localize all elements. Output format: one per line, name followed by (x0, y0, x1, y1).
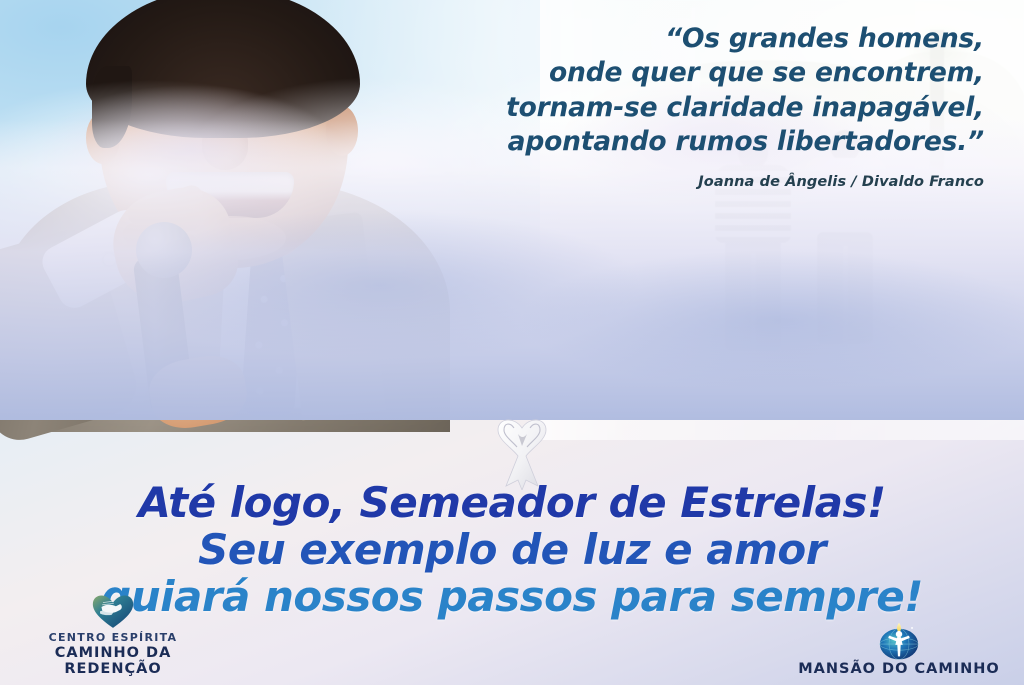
quote-line-1: “Os grandes homens, (424, 22, 984, 56)
headline-line-1: Até logo, Semeador de Estrelas! (0, 482, 1024, 524)
tribute-poster: “Os grandes homens, onde quer que se enc… (0, 0, 1024, 685)
heart-hands-logo-icon (8, 595, 218, 629)
logo-left-line-1: CENTRO ESPÍRITA (8, 631, 218, 644)
quote-line-3: tornam-se claridade inapagável, (424, 91, 984, 125)
quote-author: Joanna de Ângelis / Divaldo Franco (424, 174, 984, 190)
quote-line-2: onde quer que se encontrem, (424, 56, 984, 90)
globe-figure-flame-logo-icon (784, 624, 1014, 658)
portrait-man-with-microphone (0, 0, 460, 424)
logo-centro-espirita-caminho-da-redencao: CENTRO ESPÍRITA CAMINHO DA REDENÇÃO (8, 595, 218, 677)
quote-line-4: apontando rumos libertadores.” (424, 125, 984, 159)
logo-left-line-2: CAMINHO DA REDENÇÃO (8, 645, 218, 677)
headline-line-2: Seu exemplo de luz e amor (0, 529, 1024, 571)
quote-block: “Os grandes homens, onde quer que se enc… (424, 22, 984, 190)
portrait-hair (86, 0, 360, 138)
logo-mansao-do-caminho: MANSÃO DO CAMINHO (784, 624, 1014, 677)
logo-right-line-1: MANSÃO DO CAMINHO (784, 661, 1014, 677)
